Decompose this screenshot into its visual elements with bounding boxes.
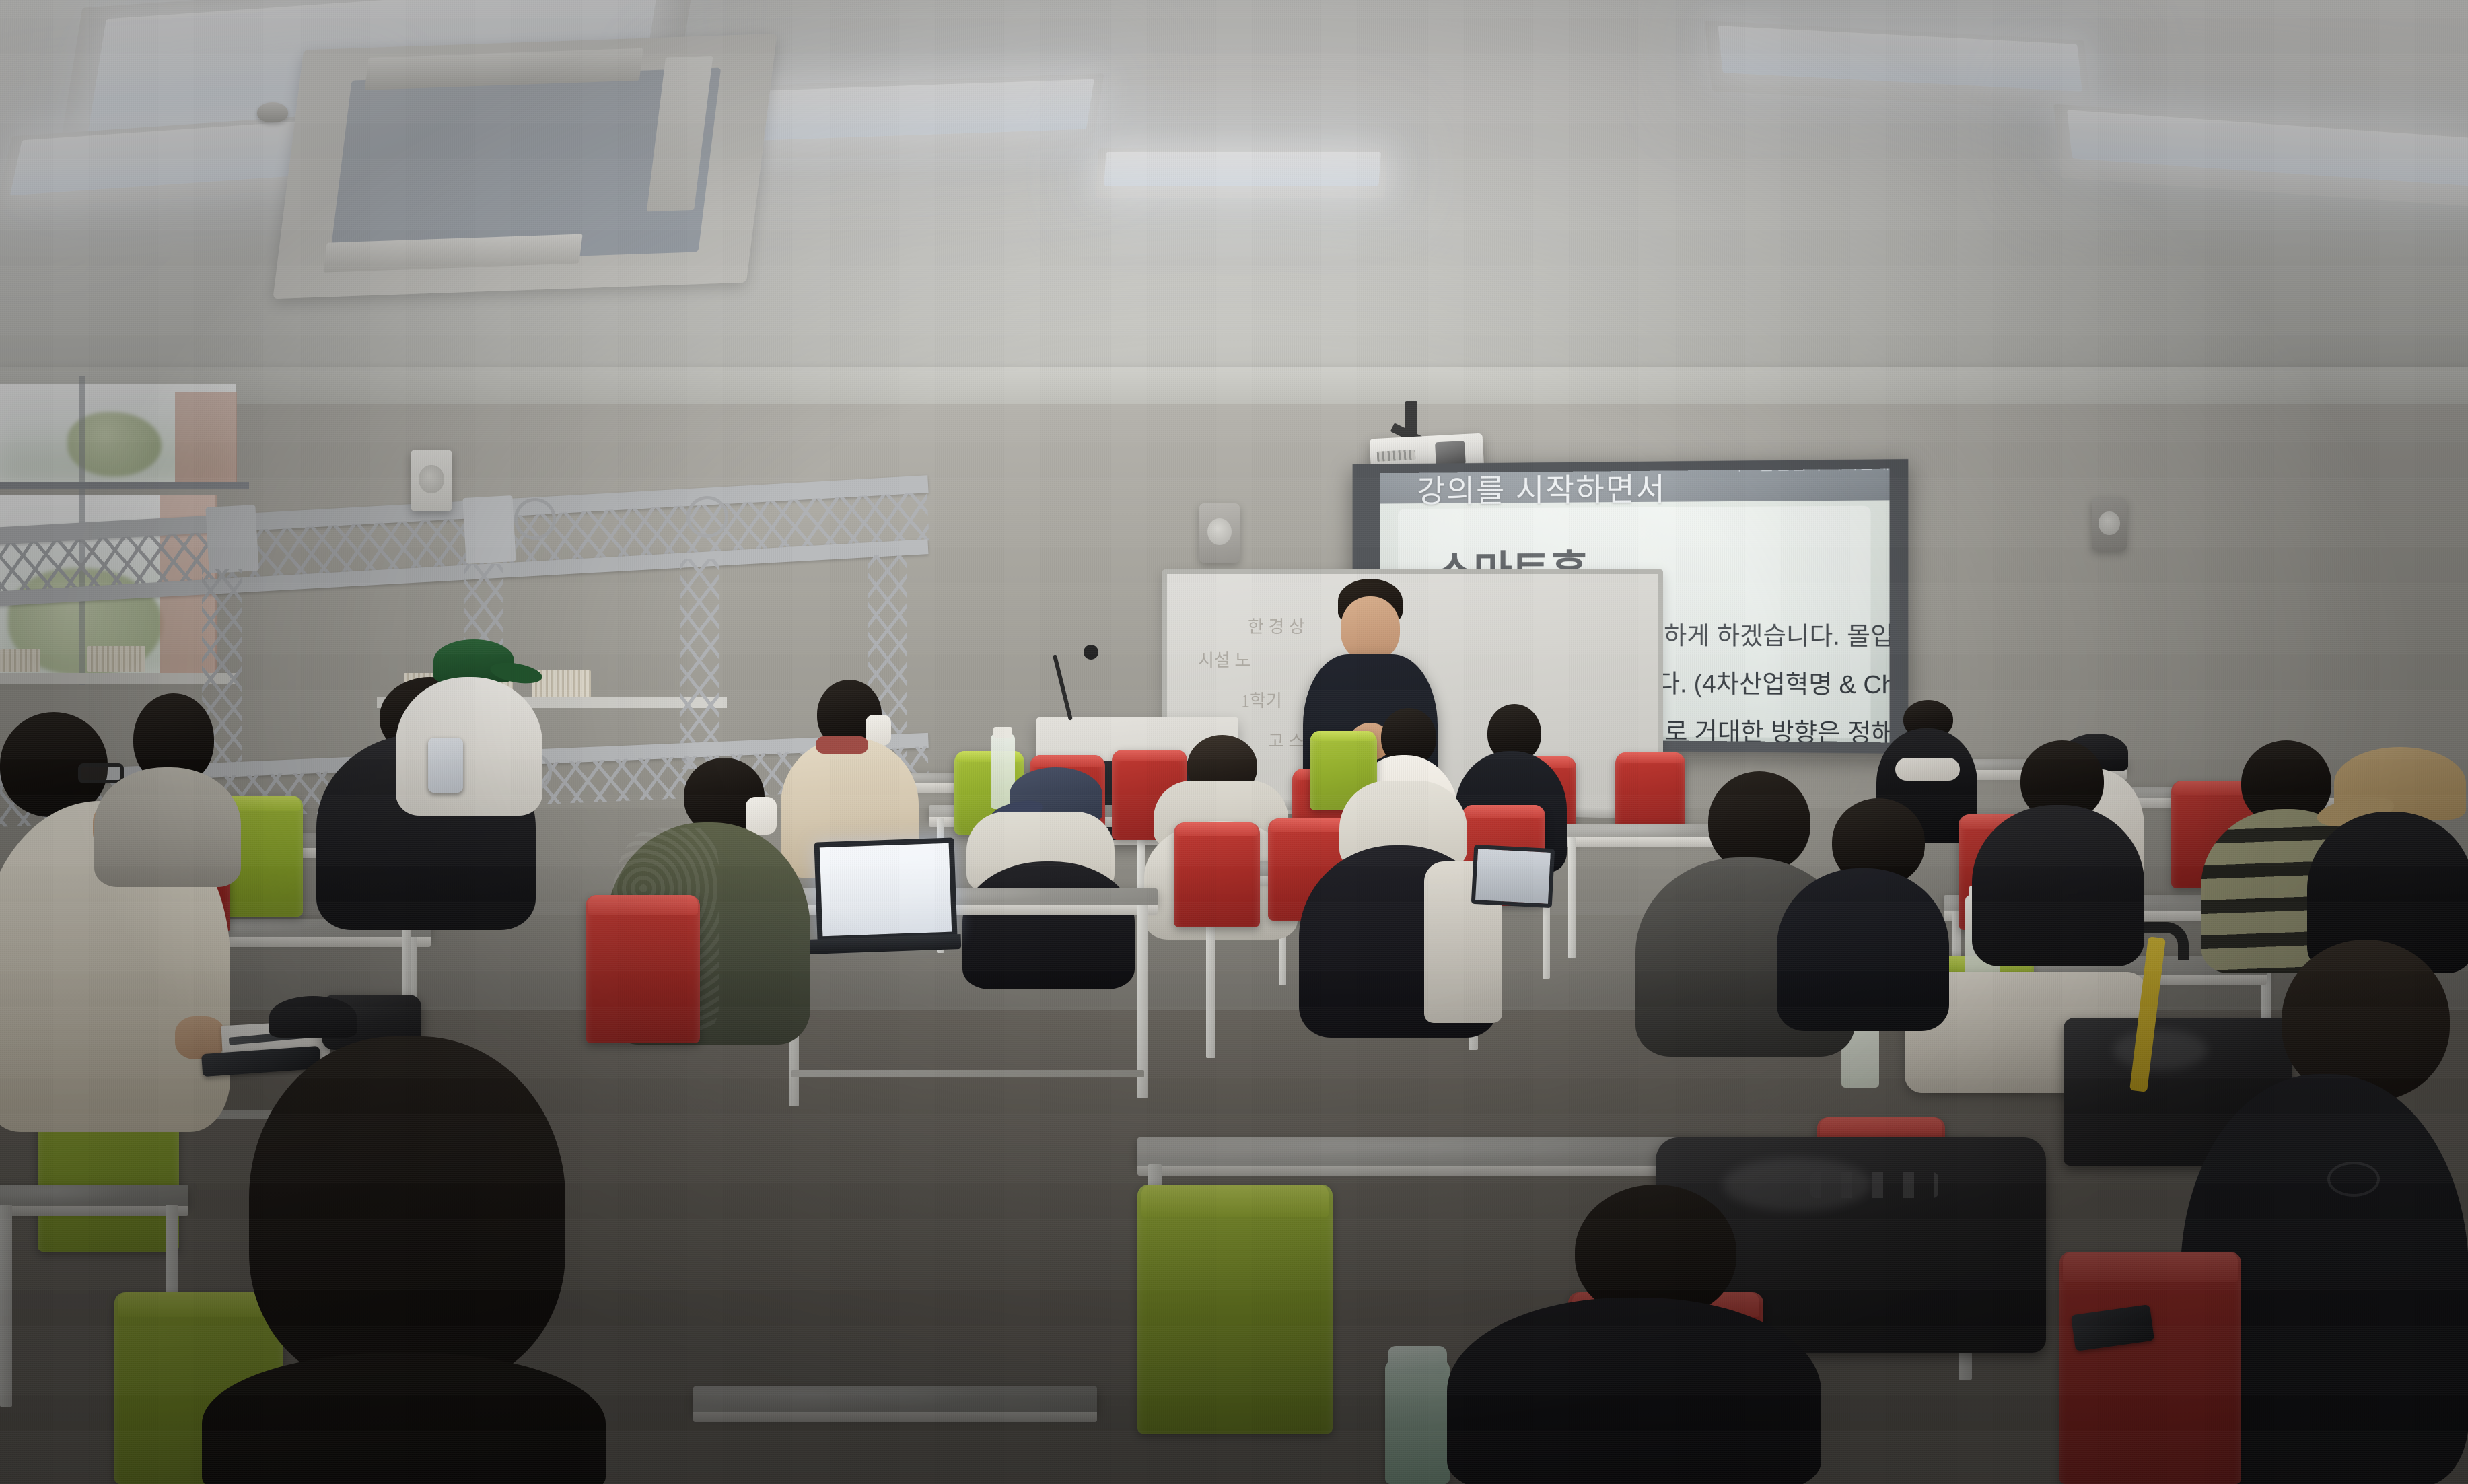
collar-red: [816, 736, 868, 754]
speaker-cone-right: [2099, 511, 2119, 536]
ceiling-light-6: [1104, 152, 1380, 186]
student-black-jacket-right: [1972, 740, 2147, 962]
student-grey-hoodie-vest: [1299, 781, 1501, 1036]
window-sill: [0, 673, 236, 684]
duffel-buckles: [1810, 1172, 1938, 1198]
chair-row2-r1[interactable]: [1174, 822, 1260, 927]
truss-hole-2: [686, 496, 728, 538]
lecturer-head: [1341, 596, 1400, 661]
water-bottle-cap-row3: [993, 727, 1012, 738]
whiteboard-scribble-1: 한 경 상: [1248, 613, 1305, 638]
projector-vent: [1377, 450, 1416, 462]
table-leg: [1137, 905, 1148, 1098]
window-upper: [0, 384, 236, 483]
student-torso: [962, 861, 1135, 989]
wall-speaker-left: [411, 450, 452, 511]
student-torso: [1972, 805, 2144, 966]
laptop-screen[interactable]: [814, 837, 957, 942]
tablet-screen[interactable]: [1471, 845, 1555, 908]
table-leg: [0, 1205, 12, 1407]
brand-logo: [2327, 1162, 2380, 1197]
student-torso: [1447, 1298, 1821, 1484]
architectural-model-1: [0, 649, 40, 672]
whiteboard-scribble-2: 시설 노: [1198, 647, 1250, 672]
hood-collar: [1895, 758, 1960, 781]
thermos-cap: [1388, 1346, 1447, 1374]
table-foreground-left: [0, 1185, 188, 1207]
truss-hole-1: [514, 498, 556, 540]
speaker-cone-front: [1207, 518, 1232, 545]
student-grey-hoodie-left: [94, 693, 242, 882]
slide-header-overflow-label: 스마트홈컨텐서 시격단체: [1713, 469, 1890, 476]
truss-node-2: [462, 495, 516, 564]
slide-header: 강의를 시작하면서 스마트홈컨텐서 시격단체: [1380, 469, 1889, 504]
table-edge: [0, 1206, 188, 1216]
student-laptop[interactable]: [814, 837, 957, 942]
student-white-shirt-right: [1777, 798, 1952, 1027]
phone-in-hand-left[interactable]: [428, 738, 463, 793]
truss-node-1: [205, 505, 258, 573]
face-mask: [746, 797, 777, 835]
podium-microphone-head: [1084, 645, 1098, 660]
table-leg: [1568, 837, 1576, 958]
student-green-cap: [396, 639, 544, 814]
student-torso: [94, 767, 241, 887]
ceiling-ac-cassette: [273, 34, 777, 299]
chair-foreground-red-2[interactable]: [2059, 1252, 2241, 1484]
slide-header-overflow-text: 스마트홈컨텐서 시격단체: [1713, 469, 1890, 479]
wall-speaker-right: [2092, 498, 2127, 551]
student-tan-cap: [2307, 747, 2468, 969]
student-longhair-foreground: [202, 1036, 606, 1484]
classroom-photo: 강의를 시작하면서 스마트홈컨텐서 시격단체 스마트홈 1. 강의는 짧고 간결…: [0, 0, 2468, 1484]
tablet-right[interactable]: [1471, 845, 1555, 908]
green-thermos-bottle[interactable]: [1385, 1359, 1450, 1484]
student-head: [249, 1036, 565, 1386]
student-torso: [202, 1353, 606, 1484]
student-torso: [1777, 868, 1949, 1031]
student-black-top-foreground-center: [1447, 1185, 1824, 1484]
speaker-cone-left: [419, 465, 444, 493]
chair-foreground-green-1[interactable]: [1137, 1185, 1333, 1434]
chair-olive-student[interactable]: [586, 895, 700, 1043]
table-edge: [693, 1412, 1097, 1422]
wall-speaker-front: [1199, 503, 1240, 563]
brick-building-upper: [175, 392, 237, 485]
table-foreground-center: [693, 1386, 1097, 1413]
whiteboard-scribble-3: 1학기: [1241, 687, 1282, 712]
window-mullion-h1: [0, 482, 249, 489]
student-navy-cap-vest: [962, 767, 1137, 989]
architectural-model-2: [87, 646, 145, 672]
table-top: [693, 1386, 1097, 1413]
truss-column-3: [680, 559, 719, 769]
table-crossbar: [791, 1070, 1144, 1077]
student-torso: [396, 677, 542, 816]
table-top: [0, 1185, 188, 1207]
smoke-detector: [257, 102, 288, 122]
projector-lens: [1435, 441, 1465, 466]
black-cap-on-table[interactable]: [269, 996, 357, 1038]
slide-header-title: 강의를 시작하면서: [1380, 469, 1666, 511]
